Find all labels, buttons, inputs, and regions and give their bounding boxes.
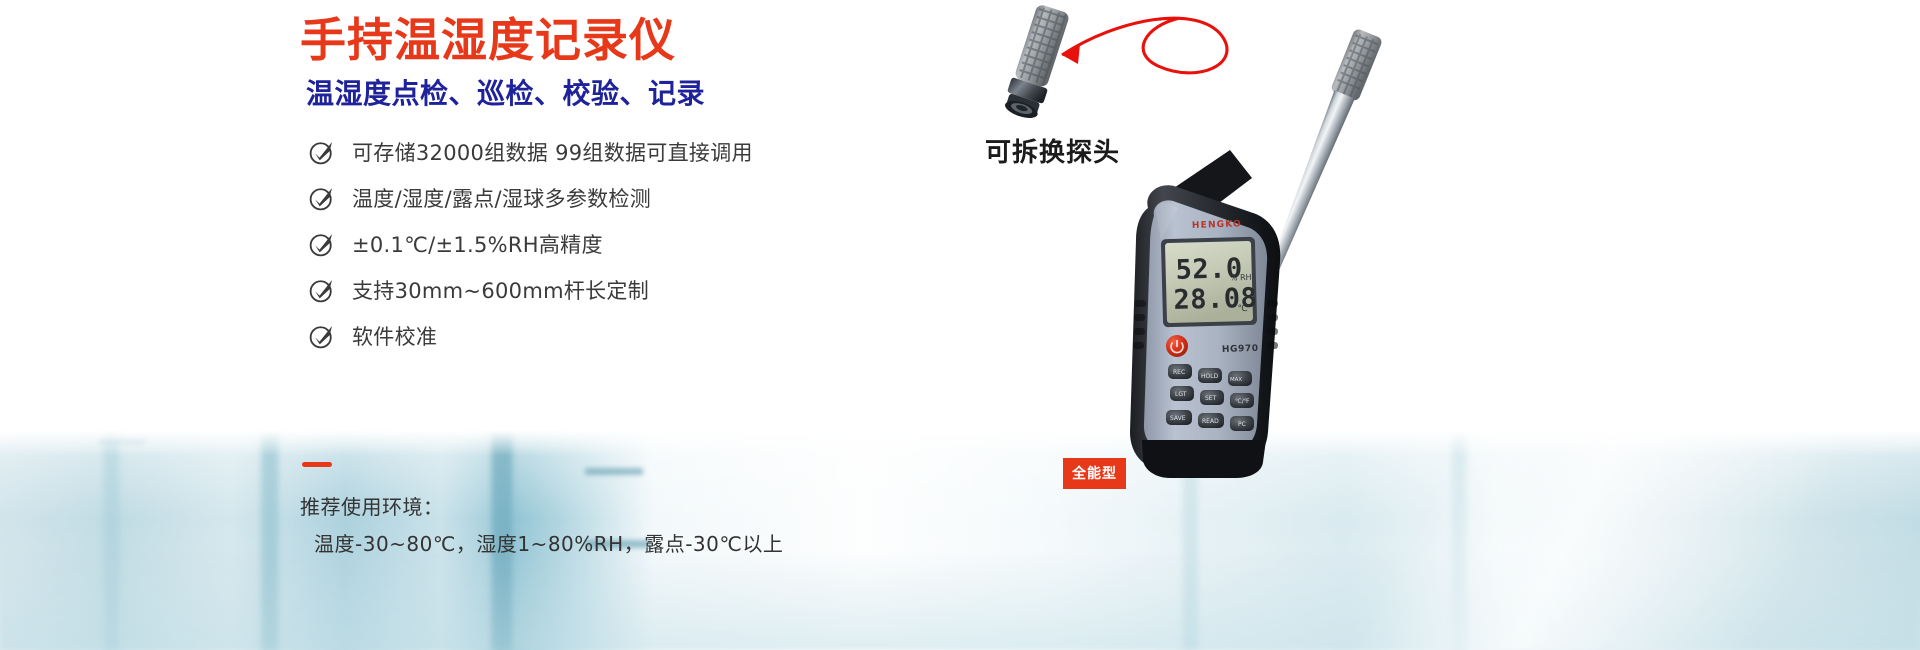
key-unit: ℃/℉ [1230,393,1254,408]
check-circle-icon [308,230,336,258]
key-pc: PC [1230,416,1254,431]
svg-text:SAVE: SAVE [1170,415,1186,422]
lcd-temperature-unit: ℃ [1238,304,1248,314]
key-maxmin: MAX [1228,371,1252,386]
svg-text:SET: SET [1205,395,1217,402]
svg-text:REC: REC [1173,369,1185,376]
feature-label: ±0.1℃/±1.5%RH高精度 [352,229,603,259]
product-image: HENGKO 52.0 % RH 28.08 ℃ [930,0,1450,650]
text-column: 手持温湿度记录仪 温湿度点检、巡检、校验、记录 可存储32000组数据 99组数… [300,0,920,359]
key-save: SAVE [1166,410,1192,425]
key-read: READ [1198,413,1224,428]
list-item: 支持30mm~600mm杆长定制 [308,267,920,313]
environment-text-block: 推荐使用环境： 温度-30~80℃，湿度1~80%RH，露点-30℃以上 [300,462,1000,563]
key-set: SET [1200,390,1224,405]
list-item: 软件校准 [308,313,920,359]
key-rec: REC [1168,364,1192,379]
feature-label: 软件校准 [352,321,437,351]
brand-label: HENGKO [1192,219,1242,231]
svg-text:READ: READ [1202,418,1219,425]
environment-detail: 温度-30~80℃，湿度1~80%RH，露点-30℃以上 [300,526,1000,563]
check-circle-icon [308,138,336,166]
probe-callout-label: 可拆换探头 [985,132,1120,169]
feature-list: 可存储32000组数据 99组数据可直接调用 温度/湿度/露点/湿球多参数检测 [308,129,920,359]
list-item: 可存储32000组数据 99组数据可直接调用 [308,129,920,175]
svg-text:PC: PC [1238,421,1246,428]
check-circle-icon [308,276,336,304]
svg-text:℃/℉: ℃/℉ [1235,398,1250,405]
status-badge: 全能型 [1063,458,1126,489]
detachable-probe [1001,3,1072,122]
arrow-head [1062,44,1080,64]
keypad: REC HOLD MAX LGT [1166,364,1254,431]
lcd-display: 52.0 % RH 28.08 ℃ [1161,237,1258,327]
feature-label: 可存储32000组数据 99组数据可直接调用 [352,137,753,167]
svg-text:LGT: LGT [1175,391,1187,398]
key-light: LGT [1170,386,1194,401]
list-item: 温度/湿度/露点/湿球多参数检测 [308,175,920,221]
page-subtitle: 温湿度点检、巡检、校验、记录 [306,77,920,111]
svg-text:HOLD: HOLD [1201,373,1219,380]
check-circle-icon [308,184,336,212]
lcd-humidity-unit: % RH [1230,273,1252,283]
power-button [1166,335,1188,357]
feature-label: 支持30mm~600mm杆长定制 [352,275,649,305]
accent-dash [302,462,332,467]
instrument-body: HENGKO 52.0 % RH 28.08 ℃ [1130,150,1280,478]
list-item: ±0.1℃/±1.5%RH高精度 [308,221,920,267]
environment-title: 推荐使用环境： [300,489,1000,526]
product-banner: 手持温湿度记录仪 温湿度点检、巡检、校验、记录 可存储32000组数据 99组数… [0,0,1920,650]
check-circle-icon [308,322,336,350]
page-title: 手持温湿度记录仪 [300,0,920,67]
svg-text:MAX: MAX [1230,377,1242,383]
key-hold: HOLD [1198,368,1222,383]
swap-arrow [1062,18,1227,73]
feature-label: 温度/湿度/露点/湿球多参数检测 [352,183,651,213]
model-label: HG970 [1222,344,1259,355]
